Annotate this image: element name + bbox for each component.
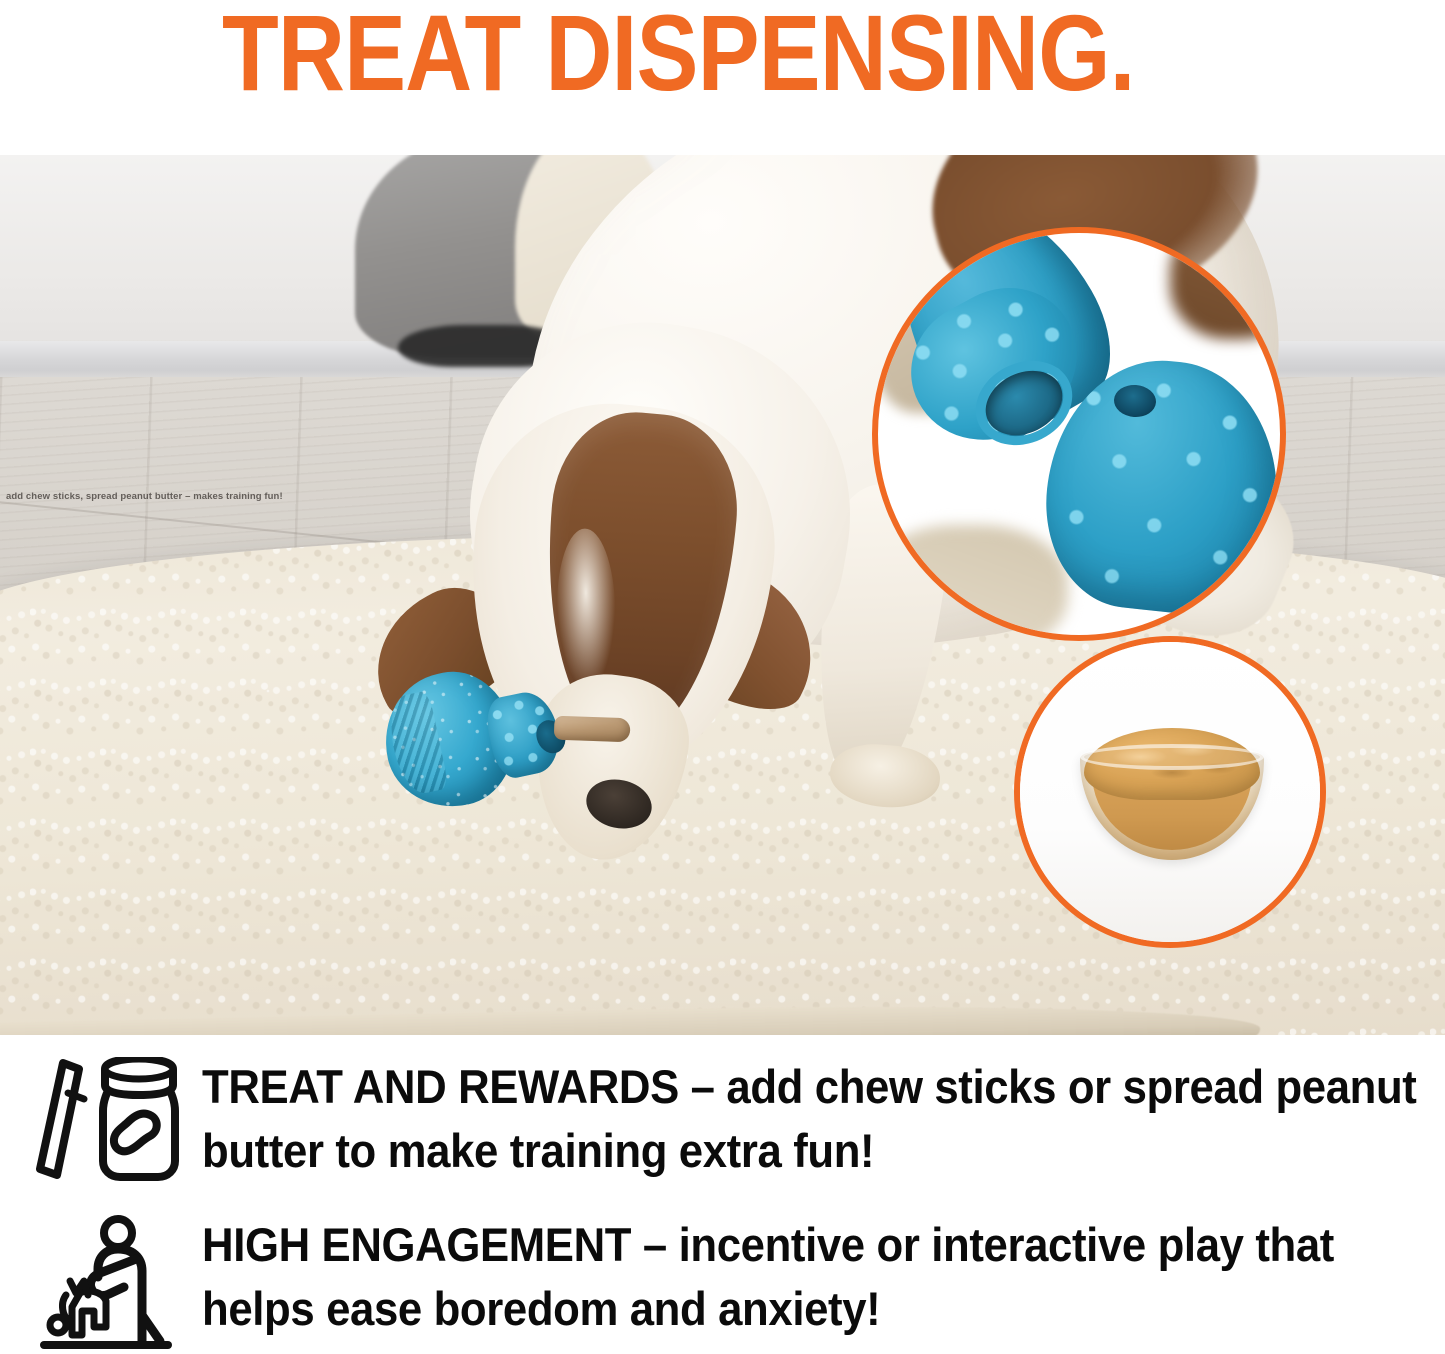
inset-fur-backdrop-right <box>1170 227 1286 339</box>
peanut-butter-bowl <box>1076 710 1268 860</box>
feature-dash: – <box>679 1060 726 1113</box>
product-infographic-page: TREAT DISPENSING. <box>0 0 1445 1354</box>
feature-item-high-engagement: HIGH ENGAGEMENT – incentive or interacti… <box>28 1211 1445 1350</box>
feature-heading: HIGH ENGAGEMENT <box>202 1218 631 1271</box>
feature-item-treat-and-rewards: TREAT AND REWARDS – add chew sticks or s… <box>28 1053 1445 1192</box>
lifestyle-photo: add chew sticks, spread peanut butter – … <box>0 155 1445 1035</box>
chew-stick <box>554 716 631 743</box>
photo-caption: add chew sticks, spread peanut butter – … <box>6 491 283 503</box>
inset-peanut-butter <box>1014 636 1326 948</box>
inset-toy-closeup <box>872 227 1286 641</box>
page-title: TREAT DISPENSING. <box>222 0 1135 112</box>
person-playing-with-dog-icon <box>28 1211 188 1350</box>
inset-rug-backdrop <box>872 525 1068 641</box>
feature-text-treat-and-rewards: TREAT AND REWARDS – add chew sticks or s… <box>202 1055 1439 1183</box>
feature-heading: TREAT AND REWARDS <box>202 1060 679 1113</box>
headline-band: TREAT DISPENSING. <box>0 0 1445 155</box>
bowl-rim <box>1080 744 1264 770</box>
feature-text-high-engagement: HIGH ENGAGEMENT – incentive or interacti… <box>202 1213 1439 1341</box>
feature-list: TREAT AND REWARDS – add chew sticks or s… <box>0 1035 1445 1354</box>
feature-dash: – <box>631 1218 678 1271</box>
chew-stick-and-peanut-butter-jar-icon <box>28 1053 188 1192</box>
